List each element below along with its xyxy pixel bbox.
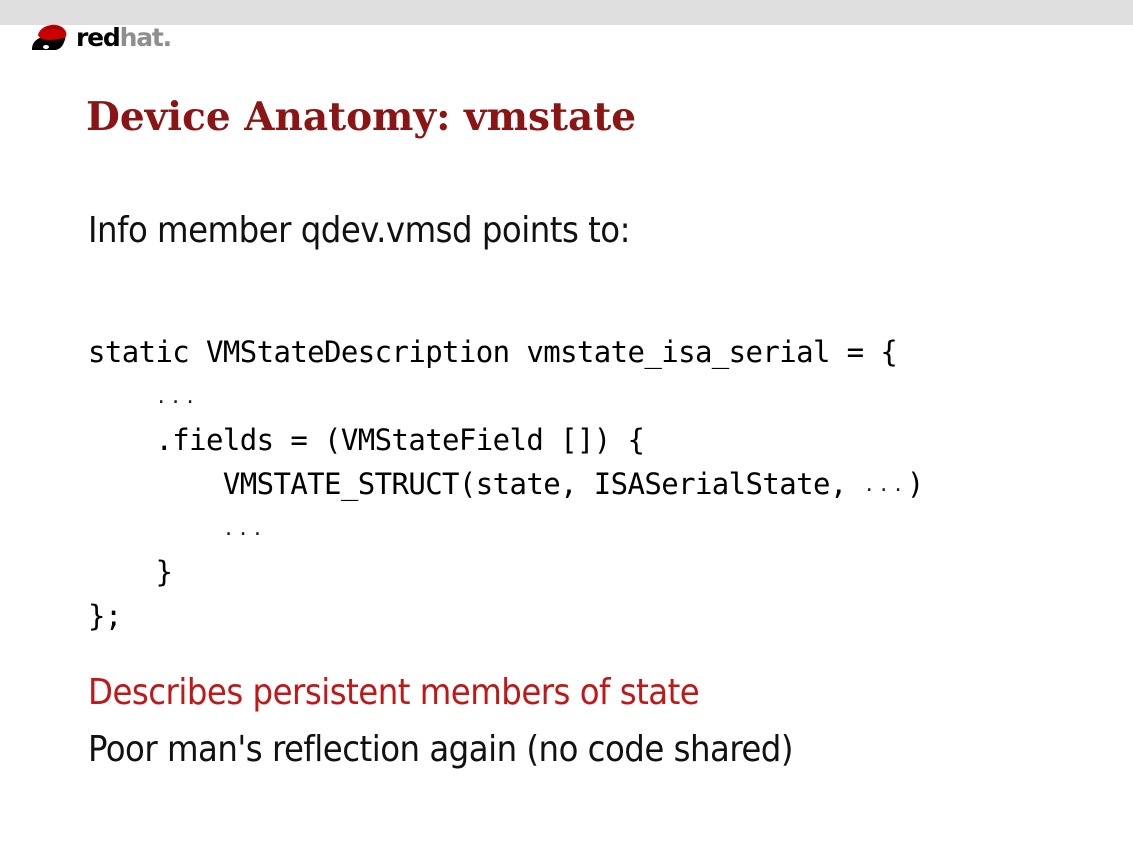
- page-title: Device Anatomy: vmstate: [86, 94, 636, 140]
- code-line-6: }: [88, 550, 924, 594]
- logo-word-dot: .: [163, 23, 171, 52]
- code-line-4: VMSTATE_STRUCT(state, ISASerialState, ..…: [88, 462, 924, 506]
- code-ellipsis: ...: [864, 474, 907, 496]
- logo-word-red: red: [76, 23, 120, 52]
- code-block: static VMStateDescription vmstate_isa_se…: [88, 330, 924, 638]
- intro-text: Info member qdev.vmsd points to:: [88, 210, 630, 251]
- bullet-describes-persistent-members: Describes persistent members of state: [88, 672, 699, 713]
- redhat-shadowman-icon: [30, 22, 74, 52]
- code-line-1: static VMStateDescription vmstate_isa_se…: [88, 330, 924, 374]
- code-ellipsis: ...: [223, 518, 266, 540]
- slide-content: Device Anatomy: vmstate Info member qdev…: [0, 0, 1133, 850]
- redhat-wordmark: redhat.: [76, 25, 171, 50]
- code-ellipsis: ...: [155, 386, 198, 408]
- code-line-3: .fields = (VMStateField []) {: [88, 418, 924, 462]
- code-line-2: ...: [88, 374, 924, 418]
- bullet-poor-mans-reflection: Poor man's reflection again (no code sha…: [88, 729, 793, 770]
- code-line-5: ...: [88, 506, 924, 550]
- redhat-logo: redhat.: [30, 18, 171, 52]
- logo-word-hat: hat: [120, 23, 163, 52]
- code-line-7: };: [88, 594, 924, 638]
